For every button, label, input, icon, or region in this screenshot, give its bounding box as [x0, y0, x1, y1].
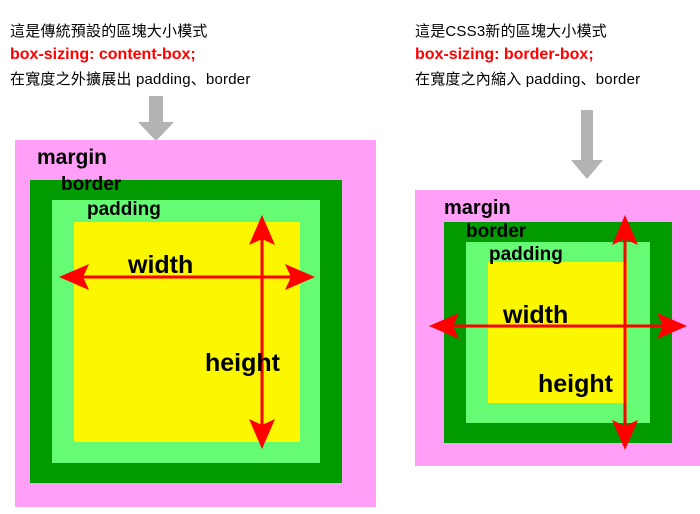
diagram-content-box: margin border padding width height: [15, 140, 376, 507]
dimension-arrows-left: [15, 140, 376, 507]
width-label-right: width: [503, 303, 568, 328]
caption-line-1: 這是傳統預設的區塊大小模式: [10, 20, 251, 43]
grey-down-arrow-right: [570, 110, 604, 185]
caption-border-box: 這是CSS3新的區塊大小模式 box-sizing: border-box; 在…: [415, 20, 640, 91]
caption-line-3: 在寬度之內縮入 padding、border: [415, 68, 640, 91]
diagram-border-box: margin border padding width height: [415, 190, 700, 466]
caption-code-declaration: box-sizing: content-box;: [10, 43, 251, 68]
width-label-left: width: [128, 253, 193, 278]
box-sizing-comparison-diagram: 這是傳統預設的區塊大小模式 box-sizing: content-box; 在…: [0, 0, 700, 514]
height-label-left: height: [205, 351, 280, 376]
caption-line-3: 在寬度之外擴展出 padding、border: [10, 68, 251, 91]
caption-content-box: 這是傳統預設的區塊大小模式 box-sizing: content-box; 在…: [10, 20, 251, 91]
caption-code-declaration: box-sizing: border-box;: [415, 43, 640, 68]
height-label-right: height: [538, 372, 613, 397]
caption-line-1: 這是CSS3新的區塊大小模式: [415, 20, 640, 43]
